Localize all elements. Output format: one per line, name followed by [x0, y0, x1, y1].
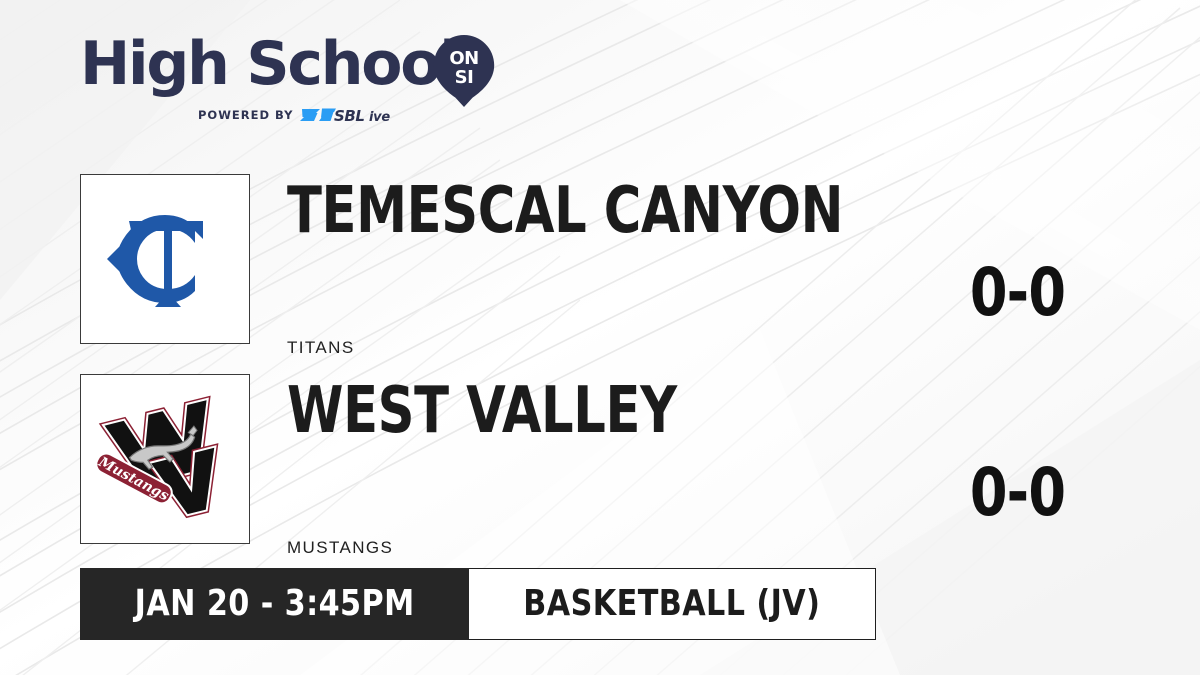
team-text-block: WEST VALLEY MUSTANGS: [287, 374, 927, 444]
pin-si-text: SI: [455, 67, 474, 88]
on-si-pin-icon: ON SI: [432, 34, 496, 108]
team-name: WEST VALLEY: [287, 378, 799, 444]
powered-by-label: POWERED BY: [198, 105, 293, 125]
powered-by-row: POWERED BY SBL ive: [198, 105, 404, 125]
pin-on-text: ON: [449, 48, 478, 69]
game-sport-chip: BASKETBALL (JV): [469, 568, 876, 640]
sblive-logo: SBL ive: [300, 105, 404, 125]
game-sport-text: BASKETBALL (JV): [524, 584, 821, 624]
sblive-text-part1: SBL: [334, 107, 365, 125]
temescal-canyon-tc-monogram-icon: [99, 193, 231, 325]
game-scorecard: High School ON SI POWERED BY SBL ive: [0, 0, 1200, 675]
west-valley-wv-mustangs-icon: Mustangs: [95, 393, 235, 525]
brand-wordmark: High School: [80, 31, 458, 97]
team-logo-box: Mustangs: [80, 374, 250, 544]
team-logo-box: [80, 174, 250, 344]
team-text-block: TEMESCAL CANYON TITANS: [287, 174, 927, 244]
game-info-bar: JAN 20 - 3:45PM BASKETBALL (JV): [80, 568, 876, 640]
team-mascot: TITANS: [287, 338, 355, 358]
team-score: 0-0: [942, 460, 1094, 526]
team-mascot: MUSTANGS: [287, 538, 393, 558]
team-score: 0-0: [942, 260, 1094, 326]
masthead: High School ON SI POWERED BY SBL ive: [80, 33, 510, 133]
sblive-text-part2: ive: [369, 110, 390, 125]
game-datetime-text: JAN 20 - 3:45PM: [135, 584, 415, 624]
brand-row: High School ON SI: [80, 33, 510, 99]
team-name: TEMESCAL CANYON: [287, 178, 799, 244]
game-datetime-chip: JAN 20 - 3:45PM: [80, 568, 469, 640]
